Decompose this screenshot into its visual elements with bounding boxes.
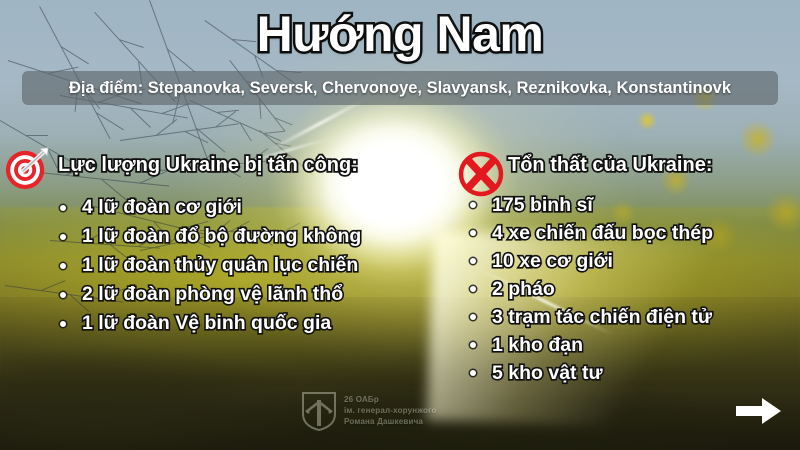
- list-item-label: 2 pháo: [492, 278, 555, 300]
- list-item-label: 3 trạm tác chiến điện tử: [492, 306, 712, 328]
- slide-canvas: Hướng Nam Địa điểm: Stepanovka, Seversk,…: [0, 0, 800, 450]
- list-item-label: 10 xe cơ giới: [492, 250, 613, 272]
- list-item: 4 xe chiến đấu bọc thép: [492, 219, 800, 247]
- bullet-dot-icon: [60, 263, 66, 269]
- unit-watermark-line2: ім. генерал-хорунжого: [344, 405, 437, 416]
- attacked-forces-list: 4 lữ đoàn cơ giới1 lữ đoàn đổ bộ đường k…: [0, 193, 450, 338]
- list-item: 4 lữ đoàn cơ giới: [82, 193, 450, 222]
- list-item: 175 binh sĩ: [492, 191, 800, 219]
- list-item-label: 4 lữ đoàn cơ giới: [82, 196, 242, 218]
- list-item: 1 lữ đoàn Vệ binh quốc gia: [82, 309, 450, 338]
- list-item-label: 1 lữ đoàn Vệ binh quốc gia: [82, 312, 331, 334]
- attacked-forces-column: Lực lượng Ukraine bị tấn công: 4 lữ đoàn…: [0, 143, 450, 338]
- list-item-label: 5 kho vật tư: [492, 362, 603, 384]
- bullet-dot-icon: [470, 286, 476, 292]
- list-item-label: 1 lữ đoàn thủy quân lục chiến: [82, 254, 358, 276]
- losses-header: Tổn thất của Ukraine:: [452, 143, 800, 187]
- list-item-label: 4 xe chiến đấu bọc thép: [492, 222, 713, 244]
- unit-watermark-line3: Романа Дашкевича: [344, 416, 437, 427]
- list-item: 1 lữ đoàn đổ bộ đường không: [82, 222, 450, 251]
- list-item-label: 1 kho đạn: [492, 334, 583, 356]
- list-item: 2 lữ đoàn phòng vệ lãnh thổ: [82, 280, 450, 309]
- page-title: Hướng Nam: [0, 4, 800, 64]
- bullet-dot-icon: [470, 370, 476, 376]
- arrow-right-icon[interactable]: [736, 396, 782, 426]
- list-item-label: 2 lữ đoàn phòng vệ lãnh thổ: [82, 283, 343, 305]
- attacked-forces-heading: Lực lượng Ukraine bị tấn công:: [58, 154, 358, 177]
- list-item: 10 xe cơ giới: [492, 247, 800, 275]
- bullet-dot-icon: [60, 205, 66, 211]
- list-item: 5 kho vật tư: [492, 359, 800, 387]
- branch-twig: [26, 135, 48, 136]
- losses-column: Tổn thất của Ukraine: 175 binh sĩ4 xe ch…: [452, 143, 800, 387]
- losses-heading: Tổn thất của Ukraine:: [508, 154, 712, 177]
- bullet-dot-icon: [60, 234, 66, 240]
- bullet-dot-icon: [60, 321, 66, 327]
- list-item: 2 pháo: [492, 275, 800, 303]
- bullet-dot-icon: [470, 342, 476, 348]
- attacked-forces-header: Lực lượng Ukraine bị tấn công:: [0, 143, 450, 187]
- bullet-dot-icon: [470, 314, 476, 320]
- unit-emblem-icon: [300, 388, 338, 432]
- bullet-dot-icon: [470, 230, 476, 236]
- list-item-label: 1 lữ đoàn đổ bộ đường không: [82, 225, 361, 247]
- list-item: 3 trạm tác chiến điện tử: [492, 303, 800, 331]
- list-item: 1 kho đạn: [492, 331, 800, 359]
- bullet-dot-icon: [470, 258, 476, 264]
- bullet-dot-icon: [60, 292, 66, 298]
- unit-watermark-line1: 26 ОАБр: [344, 394, 437, 405]
- bullet-dot-icon: [470, 202, 476, 208]
- location-bar-text: Địa điểm: Stepanovka, Seversk, Chervonoy…: [69, 79, 731, 98]
- unit-watermark-text: 26 ОАБр ім. генерал-хорунжого Романа Даш…: [344, 394, 437, 427]
- unit-watermark: 26 ОАБр ім. генерал-хорунжого Романа Даш…: [300, 388, 437, 432]
- list-item: 1 lữ đoàn thủy quân lục chiến: [82, 251, 450, 280]
- list-item-label: 175 binh sĩ: [492, 194, 593, 216]
- losses-list: 175 binh sĩ4 xe chiến đấu bọc thép10 xe …: [452, 191, 800, 387]
- location-bar: Địa điểm: Stepanovka, Seversk, Chervonoy…: [22, 71, 778, 105]
